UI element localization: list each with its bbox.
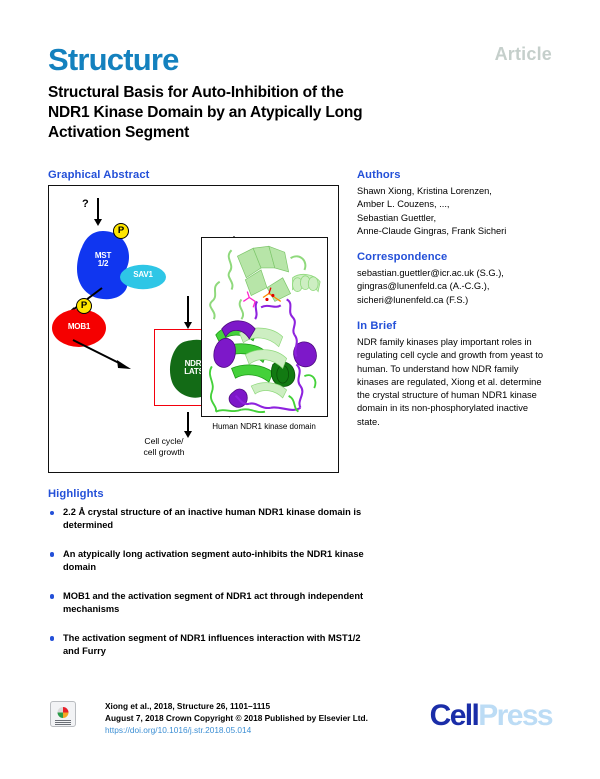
arrow-input-to-mst [97, 198, 99, 220]
highlights-section: Highlights 2.2 Å crystal structure of an… [48, 488, 368, 659]
highlights-heading: Highlights [48, 488, 368, 500]
in-brief-block: In Brief NDR family kinases play importa… [357, 320, 552, 429]
author-line: Anne-Claude Gingras, Frank Sicheri [357, 225, 552, 238]
unknown-input-label: ? [82, 198, 89, 210]
list-item: MOB1 and the activation segment of NDR1 … [48, 590, 368, 617]
mob1-phospho-badge: P [76, 298, 92, 314]
page-title: Structural Basis for Auto-Inhibition of … [48, 83, 378, 143]
page-header: Article Structure Structural Basis for A… [48, 44, 552, 143]
correspondence-email[interactable]: sebastian.guettler@icr.ac.uk (S.G.), [357, 267, 552, 280]
page-footer: Xiong et al., 2018, Structure 26, 1101–1… [48, 697, 552, 747]
author-line: Sebastian Guettler, [357, 212, 552, 225]
graphical-abstract-figure: ? MST 1/2 P SAV1 MOB1 P [48, 185, 339, 473]
protein-structure-image [201, 237, 328, 417]
list-item: The activation segment of NDR1 influence… [48, 632, 368, 659]
citation-line-1: Xiong et al., 2018, Structure 26, 1101–1… [105, 700, 435, 712]
list-item: 2.2 Å crystal structure of an inactive h… [48, 506, 368, 533]
authors-block: Authors Shawn Xiong, Kristina Lorenzen, … [357, 169, 552, 238]
correspondence-list: sebastian.guettler@icr.ac.uk (S.G.), gin… [357, 267, 552, 307]
cell-press-logo-press: Press [478, 699, 552, 732]
protein-structure-caption: Human NDR1 kinase domain [189, 422, 339, 431]
citation-block: Xiong et al., 2018, Structure 26, 1101–1… [105, 700, 435, 736]
citation-line-2: August 7, 2018 Crown Copyright © 2018 Pu… [105, 712, 435, 724]
sav1-blob [119, 264, 167, 290]
crossmark-bars-icon [55, 720, 71, 725]
doi-link[interactable]: https://doi.org/10.1016/j.str.2018.05.01… [105, 724, 435, 736]
cell-press-logo: CellPress [430, 699, 552, 733]
in-brief-heading: In Brief [357, 320, 552, 332]
journal-wordmark: Structure [48, 44, 552, 76]
in-brief-text: NDR family kinases play important roles … [357, 336, 552, 429]
arrow-mst-to-ndr [187, 296, 189, 323]
authors-heading: Authors [357, 169, 552, 181]
mst-phospho-badge: P [113, 223, 129, 239]
highlights-list: 2.2 Å crystal structure of an inactive h… [48, 506, 368, 659]
correspondence-heading: Correspondence [357, 251, 552, 263]
correspondence-block: Correspondence sebastian.guettler@icr.ac… [357, 251, 552, 307]
list-item: An atypically long activation segment au… [48, 548, 368, 575]
article-type-label: Article [495, 44, 552, 65]
metadata-column: Authors Shawn Xiong, Kristina Lorenzen, … [357, 169, 552, 429]
outcome-label: Cell cycle/ cell growth [109, 436, 219, 459]
authors-list: Shawn Xiong, Kristina Lorenzen, Amber L.… [357, 185, 552, 238]
crossmark-logo-icon [50, 701, 76, 727]
graphical-abstract-section: Graphical Abstract ? MST 1/2 P SAV1 MOB1… [48, 169, 339, 473]
correspondence-email[interactable]: gingras@lunenfeld.ca (A.-C.G.), [357, 280, 552, 293]
author-line: Amber L. Couzens, ..., [357, 198, 552, 211]
crossmark-circle-icon [58, 707, 69, 718]
author-line: Shawn Xiong, Kristina Lorenzen, [357, 185, 552, 198]
arrow-mob1-to-ndr [71, 338, 133, 372]
graphical-abstract-heading: Graphical Abstract [48, 169, 339, 181]
correspondence-email[interactable]: sicheri@lunenfeld.ca (F.S.) [357, 294, 552, 307]
cell-press-logo-cell: Cell [430, 699, 479, 732]
